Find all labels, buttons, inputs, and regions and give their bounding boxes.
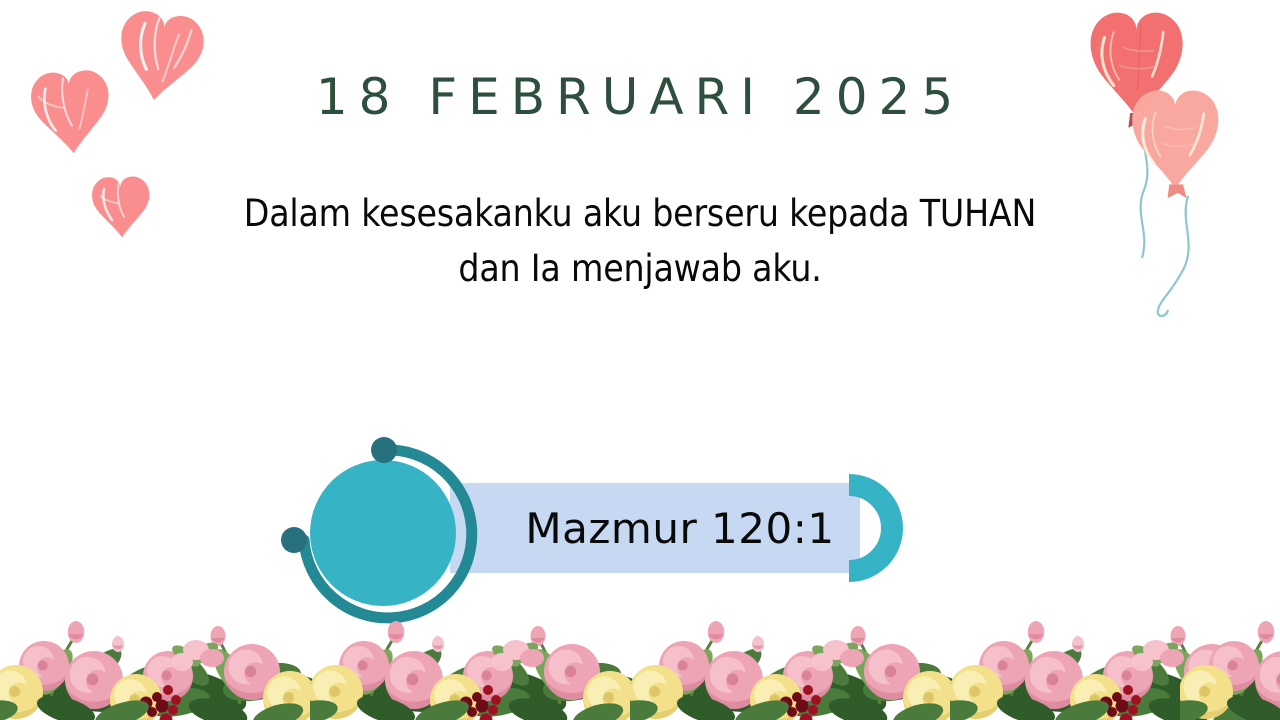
floral-unit (1180, 580, 1280, 720)
verse-card: 18 FEBRUARI 2025 Dalam kesesakanku aku b… (0, 0, 1280, 720)
balloon-string-2 (1158, 196, 1189, 316)
floral-unit (950, 580, 1280, 720)
badge-ring-dot-left-icon (281, 527, 307, 553)
heart-balloons-icon (1060, 0, 1280, 330)
floral-unit (0, 580, 320, 720)
badge-ring-dot-top-icon (371, 437, 397, 463)
page-title: 18 FEBRUARI 2025 (0, 68, 1280, 126)
verse-text: Dalam kesesakanku aku berseru kepada TUH… (190, 186, 1090, 296)
reference-label: Mazmur 120:1 (460, 488, 900, 568)
verse-line-1: Dalam kesesakanku aku berseru kepada TUH… (190, 186, 1090, 241)
badge-circle-icon (310, 460, 456, 606)
heart-icon-3 (91, 176, 150, 238)
reference-badge: Mazmur 120:1 (280, 428, 930, 628)
verse-line-2: dan Ia menjawab aku. (190, 241, 1090, 296)
balloon-string-1 (1141, 122, 1148, 258)
balloons-decoration (1060, 0, 1280, 330)
